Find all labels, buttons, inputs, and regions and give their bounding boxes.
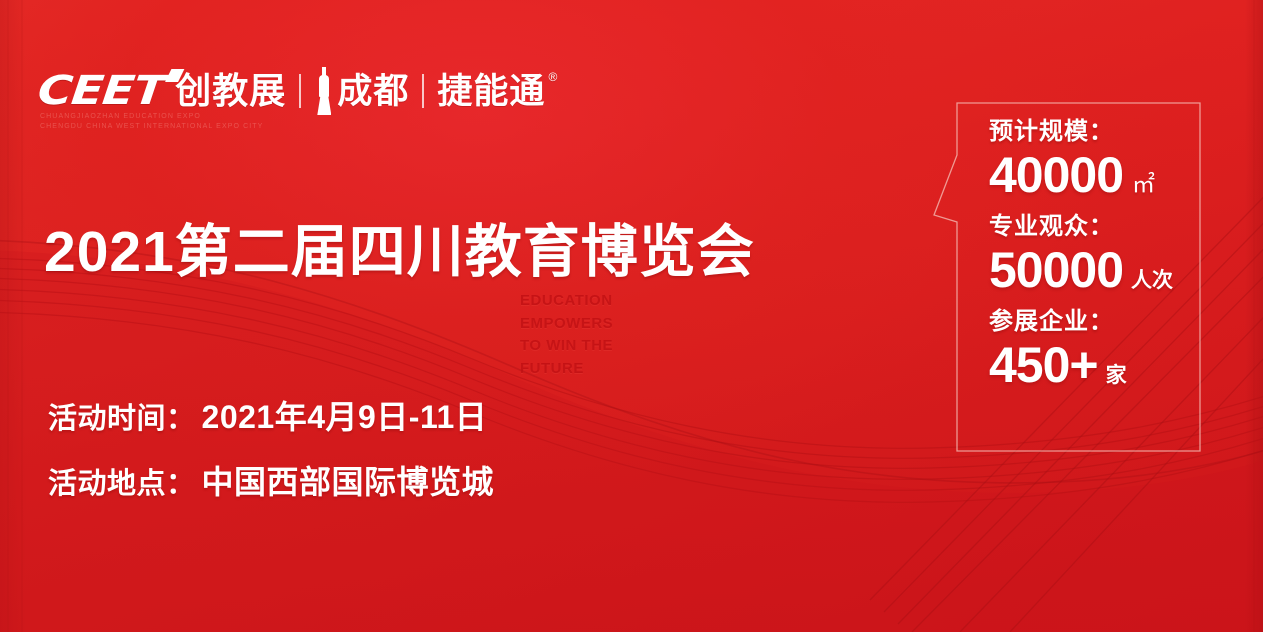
event-venue-label: 活动地点：: [48, 460, 196, 502]
stat-item: 参展企业： 450+ 家: [961, 306, 1205, 395]
stat-value-row: 50000 人次: [989, 242, 1205, 300]
stat-label: 参展企业：: [989, 306, 1205, 338]
tv-tower-icon: [316, 67, 332, 115]
logo-wordmark: CEET: [36, 71, 167, 111]
stat-item: 预计规模： 40000 ㎡: [961, 116, 1205, 205]
event-venue-row: 活动地点： 中国西部国际博览城: [48, 457, 494, 503]
event-venue-value: 中国西部国际博览城: [202, 457, 495, 503]
logo-tagline-line2: CHENGDU CHINA WEST INTERNATIONAL EXPO CI…: [40, 122, 263, 132]
event-time-row: 活动时间： 2021年4月9日-11日: [48, 392, 494, 438]
logo-brand-text: 捷能通: [437, 72, 545, 111]
event-time-value: 2021年4月9日-11日: [202, 392, 488, 438]
stat-unit: ㎡: [1132, 173, 1155, 196]
logo-cn-name: 创教展: [175, 73, 286, 109]
page-title: 2021第二届四川教育博览会: [44, 222, 755, 284]
logo-tagline: CHUANGJIAOZHAN EDUCATION EXPO CHENGDU CH…: [40, 112, 263, 132]
stat-unit: 人次: [1131, 270, 1173, 291]
registered-mark-icon: ®: [549, 71, 559, 83]
stat-number: 50000: [989, 242, 1123, 300]
stat-unit: 家: [1106, 365, 1127, 386]
stat-label: 预计规模：: [989, 116, 1205, 148]
stats-list: 预计规模： 40000 ㎡ 专业观众： 50000 人次 参展企业： 450+ …: [961, 116, 1205, 395]
event-banner: CEET 创教展 成都 捷能通 ® CHUANGJIAOZHAN EDUCATI…: [0, 0, 1263, 632]
stat-number: 40000: [989, 147, 1123, 205]
stat-value-row: 450+ 家: [989, 337, 1205, 395]
logo-city: 成都: [337, 74, 409, 109]
event-time-label: 活动时间：: [48, 395, 196, 437]
stat-number: 450+: [989, 337, 1098, 395]
logo-tagline-line1: CHUANGJIAOZHAN EDUCATION EXPO: [40, 112, 263, 122]
logo-divider-1: [299, 74, 301, 108]
background-watermark-text: EDUCATION EMPOWERS TO WIN THE FUTURE: [520, 290, 613, 380]
stats-panel: 预计规模： 40000 ㎡ 专业观众： 50000 人次 参展企业： 450+ …: [933, 98, 1205, 456]
stat-label: 专业观众：: [989, 211, 1205, 243]
stat-value-row: 40000 ㎡: [989, 147, 1205, 205]
logo-brand: 捷能通 ®: [437, 74, 545, 109]
event-meta: 活动时间： 2021年4月9日-11日 活动地点： 中国西部国际博览城: [48, 392, 494, 522]
logo-wordmark-text: CEET: [36, 68, 167, 114]
stat-item: 专业观众： 50000 人次: [961, 211, 1205, 300]
logo-divider-2: [422, 74, 424, 108]
